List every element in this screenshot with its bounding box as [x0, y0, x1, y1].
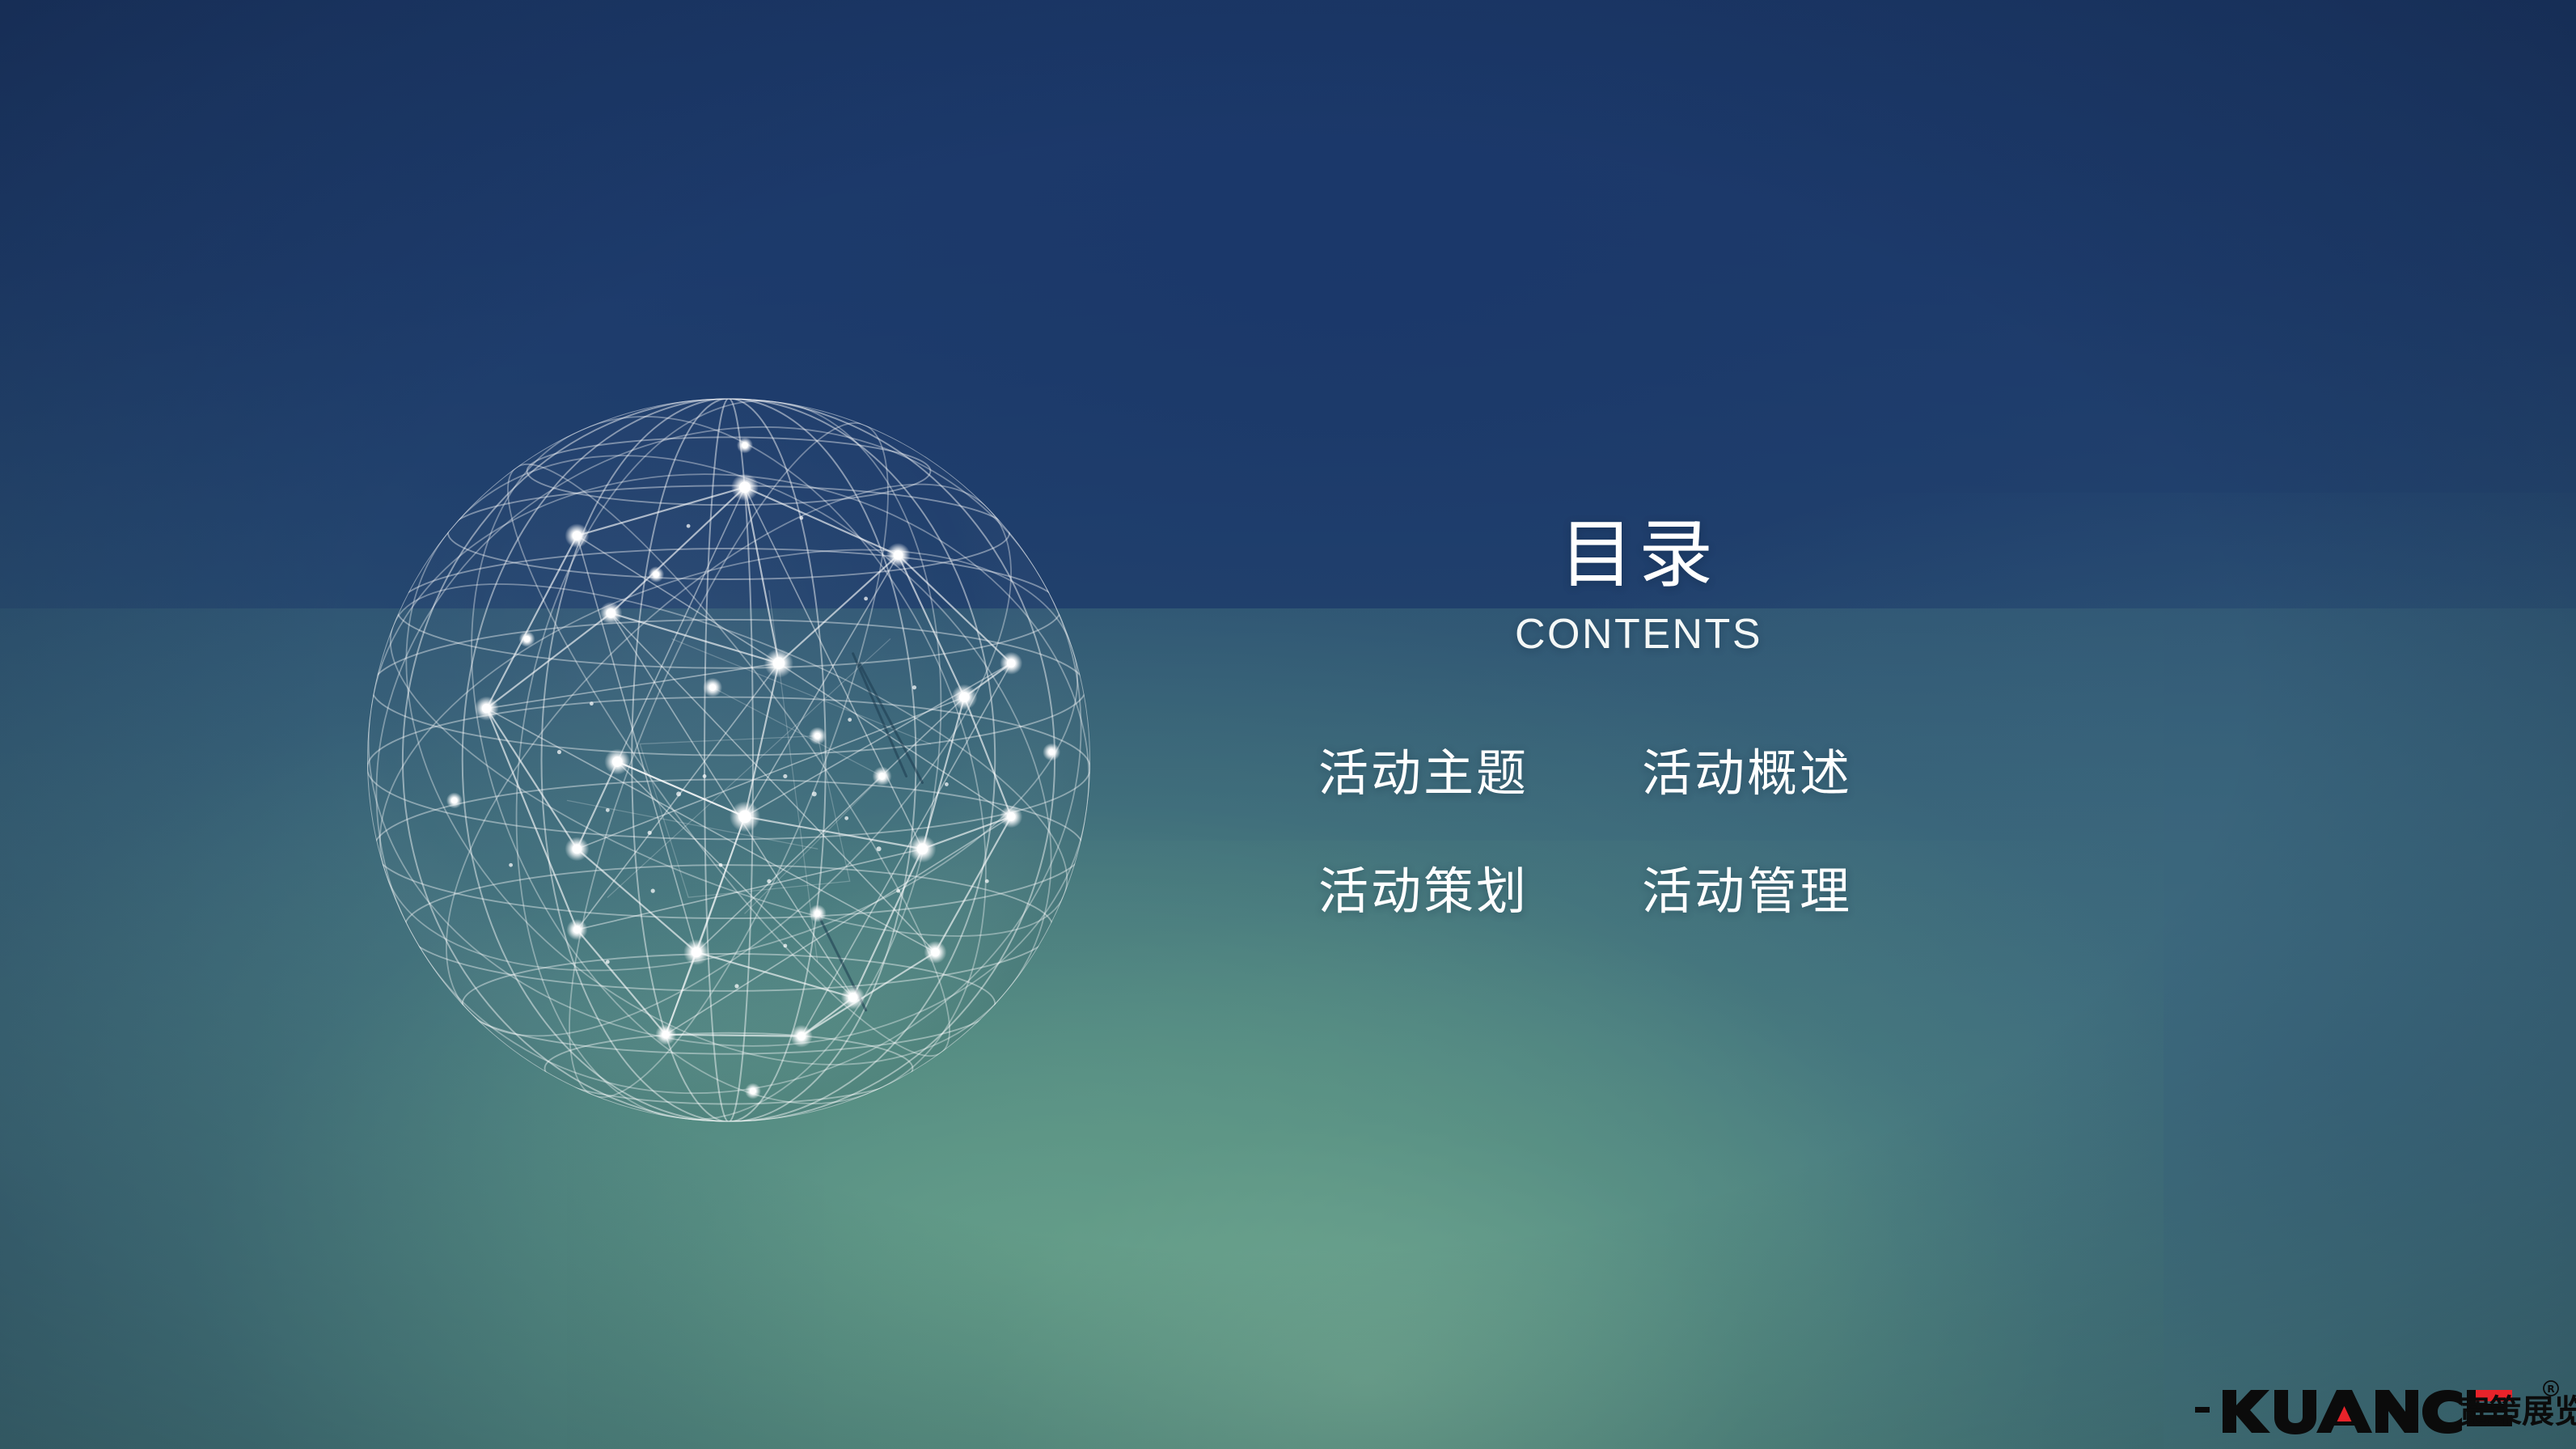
brand-logo: 宽策展览 R — [2195, 1379, 2561, 1438]
page-subtitle: CONTENTS — [1404, 613, 1873, 655]
logo-name-cn: 宽策展览 — [2457, 1393, 2576, 1430]
contents-menu: 活动主题 活动概述 活动策划 活动管理 — [1318, 749, 2006, 917]
title-block: 目录 CONTENTS — [1404, 518, 1873, 655]
contents-panel: 目录 CONTENTS 活动主题 活动概述 活动策划 活动管理 — [1294, 518, 2006, 917]
page-title: 目录 — [1404, 518, 1873, 592]
menu-item-activity-management[interactable]: 活动管理 — [1642, 867, 1965, 917]
menu-item-activity-theme[interactable]: 活动主题 — [1318, 749, 1642, 799]
network-globe-graphic — [366, 394, 1092, 1126]
slide-root: 目录 CONTENTS 活动主题 活动概述 活动策划 活动管理 — [0, 0, 2576, 1449]
menu-item-activity-planning[interactable]: 活动策划 — [1318, 867, 1642, 917]
svg-text:R: R — [2547, 1383, 2554, 1395]
svg-text:宽策展览: 宽策展览 — [2457, 1393, 2576, 1430]
menu-item-activity-overview[interactable]: 活动概述 — [1642, 749, 1965, 799]
logo-registered-icon: R — [2544, 1381, 2558, 1396]
